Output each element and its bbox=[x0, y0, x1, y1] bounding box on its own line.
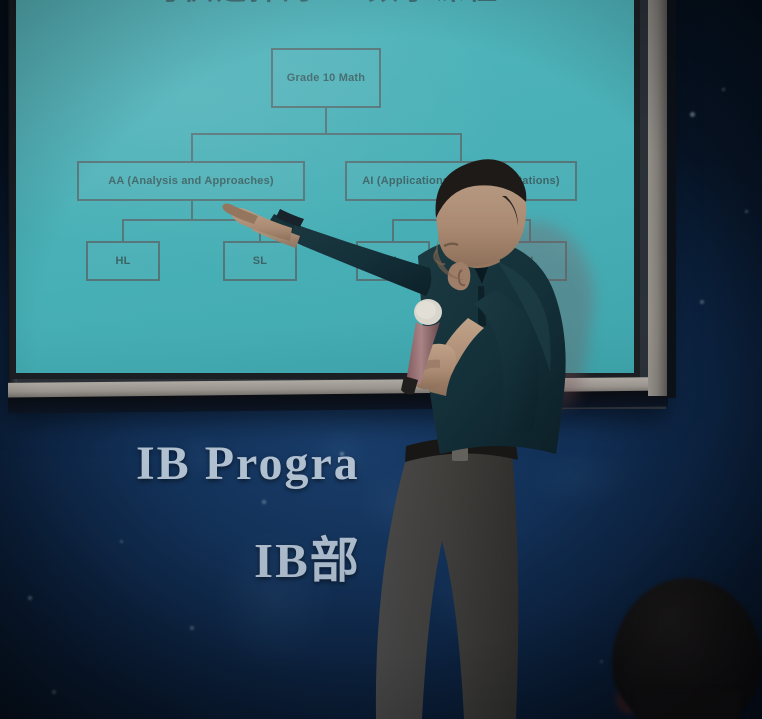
connector-ai-sl bbox=[529, 219, 531, 241]
screen-bezel: 可供选择的DP数学课程 Grade 10 Math AA (Analysis a… bbox=[10, 0, 640, 379]
node-ai: AI (Applications and Interpretations) bbox=[345, 161, 577, 201]
connector-to-ai bbox=[460, 133, 462, 161]
connector-aa-down bbox=[191, 200, 193, 220]
node-aa-sl: SL bbox=[223, 241, 297, 281]
slide-title: 可供选择的DP数学课程 bbox=[16, 0, 634, 8]
node-ai-sl: SL bbox=[493, 241, 567, 281]
connector-ai-bar bbox=[392, 219, 530, 221]
connector-level1-bar bbox=[191, 133, 461, 135]
connector-ai-down bbox=[460, 200, 462, 220]
screen-right-dark-edge bbox=[667, 0, 676, 398]
connector-root-down bbox=[325, 108, 327, 134]
node-aa-hl: HL bbox=[86, 241, 160, 281]
wall-title-chinese: IB部 bbox=[254, 521, 361, 592]
audience-member-neck bbox=[636, 690, 740, 719]
node-ai-hl: HL bbox=[356, 241, 430, 281]
wall-title-english: IB Progra bbox=[136, 436, 360, 491]
connector-ai-hl bbox=[392, 219, 394, 241]
projection-screen-frame: 可供选择的DP数学课程 Grade 10 Math AA (Analysis a… bbox=[8, 0, 666, 409]
presentation-photo: IB Progra IB部 可供选择的DP数学课程 bbox=[0, 0, 762, 719]
connector-to-aa bbox=[191, 133, 193, 161]
screen-right-edge bbox=[648, 0, 667, 396]
connector-aa-bar bbox=[122, 219, 260, 221]
node-aa: AA (Analysis and Approaches) bbox=[77, 161, 305, 201]
connector-aa-hl bbox=[122, 219, 124, 241]
node-grade-10-math: Grade 10 Math bbox=[271, 48, 381, 108]
projected-slide: 可供选择的DP数学课程 Grade 10 Math AA (Analysis a… bbox=[16, 0, 634, 373]
connector-aa-sl bbox=[259, 219, 261, 241]
